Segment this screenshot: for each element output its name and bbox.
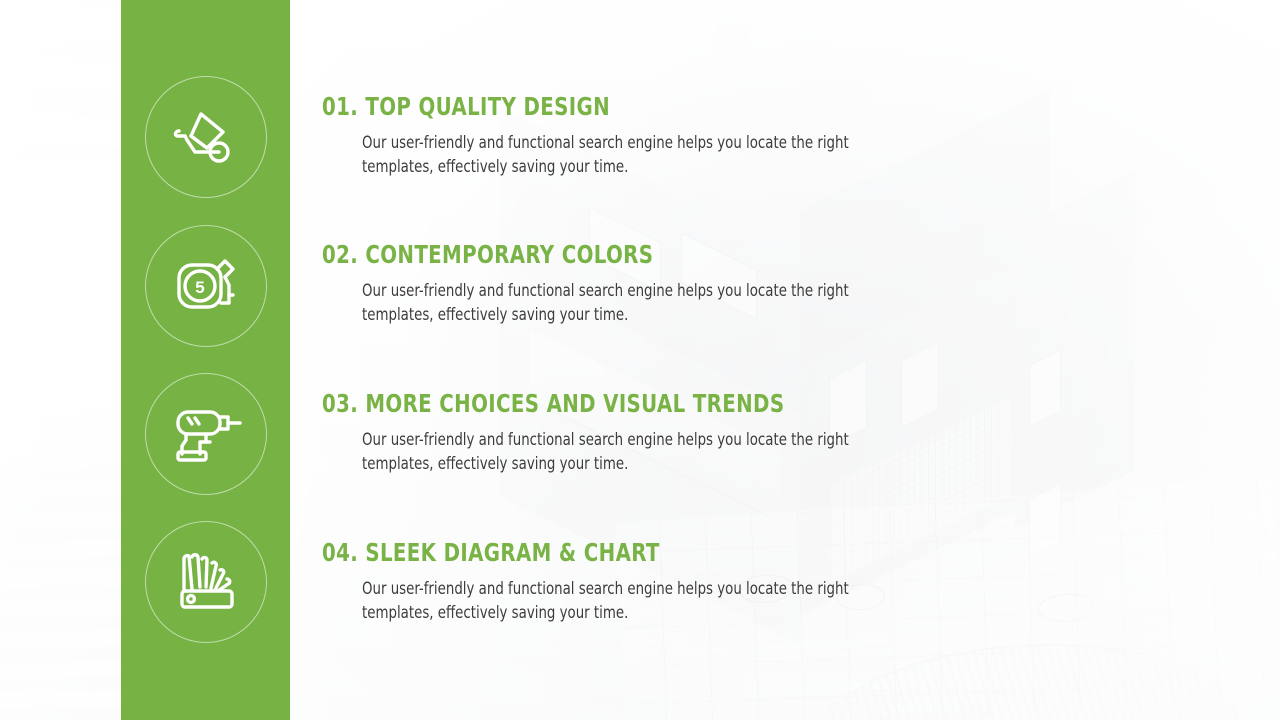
icon-circle-wheelbarrow[interactable] (145, 76, 267, 198)
feature-title: 03. MORE CHOICES AND VISUAL TRENDS (322, 390, 903, 418)
feature-description: Our user-friendly and functional search … (362, 279, 920, 328)
svg-text:5: 5 (195, 278, 204, 297)
house-window (1030, 485, 1060, 558)
feature-description: Our user-friendly and functional search … (362, 577, 920, 626)
feature-item: 02. CONTEMPORARY COLORS Our user-friendl… (322, 241, 982, 327)
icon-sidebar: 5 (121, 0, 290, 720)
power-drill-icon (170, 404, 242, 464)
icon-circle-power-drill[interactable] (145, 373, 267, 495)
slide-root: 5 (0, 0, 1280, 720)
house-face-wing (1015, 171, 1135, 530)
feature-item: 01. TOP QUALITY DESIGN Our user-friendly… (322, 93, 982, 179)
blueprint-stamp (1037, 592, 1095, 624)
color-swatch-fan-icon (172, 551, 240, 613)
feature-title: 02. CONTEMPORARY COLORS (322, 241, 903, 269)
feature-title: 01. TOP QUALITY DESIGN (322, 93, 903, 121)
icon-circle-tape-measure[interactable]: 5 (145, 225, 267, 347)
feature-description: Our user-friendly and functional search … (362, 131, 920, 180)
feature-description: Our user-friendly and functional search … (362, 428, 920, 477)
tape-measure-icon: 5 (173, 255, 239, 317)
feature-title: 04. SLEEK DIAGRAM & CHART (322, 539, 903, 567)
feature-item: 04. SLEEK DIAGRAM & CHART Our user-frien… (322, 539, 982, 625)
icon-circle-color-swatch-fan[interactable] (145, 521, 267, 643)
feature-list: 01. TOP QUALITY DESIGN Our user-friendly… (322, 0, 1022, 720)
feature-item: 03. MORE CHOICES AND VISUAL TRENDS Our u… (322, 390, 982, 476)
house-window (1030, 351, 1060, 426)
wheelbarrow-icon (171, 106, 241, 168)
